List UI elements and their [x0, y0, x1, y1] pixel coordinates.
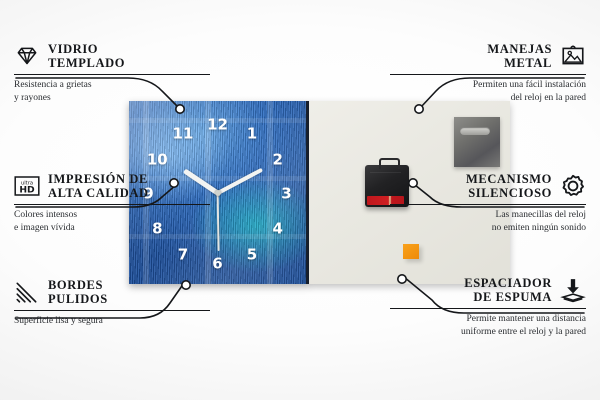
feature-subtitle: Permiten una fácil instalación del reloj… [390, 75, 586, 105]
feature-subtitle: Las manecillas del reloj no emiten ningú… [390, 205, 586, 235]
feature-title-line: IMPRESIÓN DE [48, 172, 149, 186]
infographic-canvas: 12 1 2 3 4 5 6 7 8 9 10 11 [0, 0, 600, 400]
feature-title-line: ALTA CALIDAD [48, 186, 149, 200]
feature-subtitle: Resistencia a grietas y rayones [14, 75, 210, 105]
feature-title-line: BORDES [48, 278, 108, 292]
feature-title-line: METAL [504, 56, 552, 70]
feature-mecanismo-silencioso: MECANISMO SILENCIOSO Las manecillas del … [390, 172, 586, 235]
clock-numeral: 3 [281, 187, 291, 202]
gear-icon [560, 173, 586, 199]
picture-hanger-icon [560, 43, 586, 69]
feature-bordes-pulidos: BORDES PULIDOS Superficie lisa y segura [14, 278, 210, 328]
ultra-hd-bottom-text: HD [19, 185, 35, 196]
hanger-keyhole-slot [460, 127, 489, 135]
clock-numeral: 10 [147, 152, 168, 167]
ultra-hd-icon: ultra HD [14, 173, 40, 199]
movement-hanger-tab [379, 158, 400, 169]
feature-subtitle: Permite mantener una distancia uniforme … [390, 309, 586, 339]
arrow-down-pad-icon [560, 277, 586, 303]
feature-title-line: ESPACIADOR [464, 276, 552, 290]
clock-numeral: 4 [272, 222, 282, 237]
feature-title-line: DE ESPUMA [473, 290, 552, 304]
feature-espaciador-de-espuma: ESPACIADOR DE ESPUMA Permite mantener un… [390, 276, 586, 339]
clock-numeral: 2 [272, 152, 282, 167]
clock-numeral: 6 [212, 256, 222, 271]
clock-numeral: 12 [207, 117, 228, 132]
feature-subtitle: Superficie lisa y segura [14, 311, 210, 328]
clock-numeral: 5 [247, 247, 257, 262]
feature-title-line: MANEJAS [487, 42, 552, 56]
feature-impresion-alta-calidad: ultra HD IMPRESIÓN DE ALTA CALIDAD Color… [14, 172, 210, 235]
feature-subtitle: Colores intensos e imagen vívida [14, 205, 210, 235]
clock-center-cap [215, 190, 221, 196]
feature-vidrio-templado: VIDRIO TEMPLADO Resistencia a grietas y … [14, 42, 210, 105]
feature-title-line: PULIDOS [48, 292, 108, 306]
diamond-icon [14, 43, 40, 69]
clock-numeral: 7 [178, 247, 188, 262]
clock-numeral: 1 [247, 126, 257, 141]
polished-edge-stripes-icon [14, 279, 40, 305]
feature-title-line: TEMPLADO [48, 56, 125, 70]
feature-title-line: VIDRIO [48, 42, 125, 56]
feature-title-line: SILENCIOSO [468, 186, 552, 200]
feature-manejas-metal: MANEJAS METAL Permiten una fácil instala… [390, 42, 586, 105]
clock-numeral: 11 [173, 126, 194, 141]
metal-hanger-plate [454, 117, 500, 167]
feature-title-line: MECANISMO [466, 172, 552, 186]
foam-spacer [403, 244, 419, 259]
